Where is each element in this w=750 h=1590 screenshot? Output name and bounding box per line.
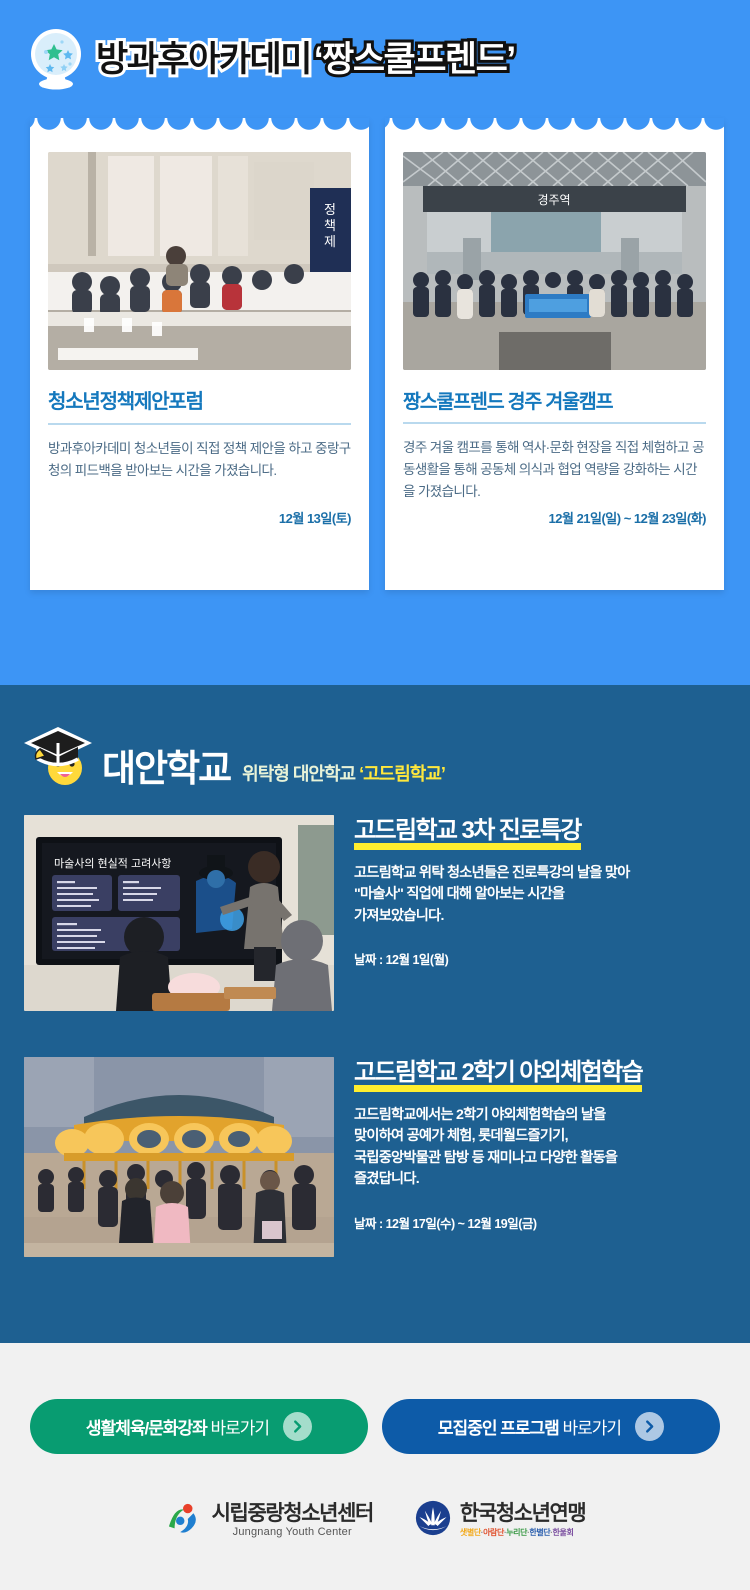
academy-card-title: 청소년정책제안포럼	[48, 391, 351, 414]
subunit-5: 한울회	[553, 1528, 574, 1537]
alt-school-item-photo: 마술사의 현실적 고려사항	[24, 815, 334, 1011]
alt-school-item-title-text: 고드림학교 2학기 야외체험학습	[354, 1059, 642, 1086]
alt-school-item-title: 고드림학교 3차 진로특강	[354, 817, 581, 847]
chevron-right-circle-icon	[635, 1412, 664, 1441]
academy-card[interactable]: 경주역	[385, 118, 724, 590]
recruiting-program-label: 모집중인 프로그램 바로가기	[438, 1414, 621, 1439]
korea-youth-association-name-ko: 한국청소년연맹	[460, 1503, 585, 1525]
alt-school-section: 대안학교 위탁형 대안학교 ‘고드림학교’ 마술사의 현실적 고려사항	[0, 685, 750, 1343]
alt-school-item-description: 고드림학교에서는 2학기 야외체험학습의 날을 맞이하여 공예가 체험, 롯데월…	[354, 1105, 726, 1191]
alt-school-item-title: 고드림학교 2학기 야외체험학습	[354, 1059, 642, 1089]
svg-text:책: 책	[324, 218, 336, 233]
alt-school-item[interactable]: 고드림학교 2학기 야외체험학습 고드림학교에서는 2학기 야외체험학습의 날을…	[0, 1057, 750, 1257]
alt-school-subtitle-highlight: ‘고드림학교’	[359, 764, 445, 784]
korea-youth-association-logo: 한국청소년연맹 샛별단·아람단·누리단·한별단·한울회	[415, 1500, 585, 1541]
alt-school-item-body: 고드림학교 3차 진로특강 고드림학교 위탁 청소년들은 진로특강의 날을 맞아…	[354, 815, 726, 1011]
chevron-right-circle-icon	[283, 1412, 312, 1441]
svg-text:제: 제	[324, 234, 336, 249]
sports-culture-course-label: 생활체육/문화강좌 바로가기	[86, 1414, 269, 1439]
academy-card-list: 정 책 제	[0, 118, 750, 590]
alt-school-item-description: 고드림학교 위탁 청소년들은 진로특강의 날을 맞아 "마술사" 직업에 대해 …	[354, 863, 726, 928]
academy-header-title: 방과후아카데미‘짱스쿨프렌드’	[96, 42, 515, 77]
alt-school-item-date: 날짜 : 12월 1일(월)	[354, 949, 726, 968]
alt-school-header: 대안학교 위탁형 대안학교 ‘고드림학교’	[0, 711, 750, 791]
jungnang-youth-center-logo: 시립중랑청소년센터 Jungnang Youth Center	[165, 1502, 373, 1539]
alt-school-item-body: 고드림학교 2학기 야외체험학습 고드림학교에서는 2학기 야외체험학습의 날을…	[354, 1057, 726, 1257]
recruiting-program-link-button[interactable]: 모집중인 프로그램 바로가기	[382, 1399, 720, 1454]
academy-section: 방과후아카데미‘짱스쿨프렌드’ 정 책	[0, 0, 750, 685]
footer-button-row: 생활체육/문화강좌 바로가기 모집중인 프로그램 바로가기	[0, 1343, 750, 1454]
footer-section: 생활체육/문화강좌 바로가기 모집중인 프로그램 바로가기	[0, 1343, 750, 1590]
academy-title-sub: ‘짱스쿨프렌드’	[314, 40, 515, 79]
alt-school-item-title-text: 고드림학교 3차 진로특강	[354, 817, 581, 844]
subunit-2: 아람단	[483, 1528, 504, 1537]
academy-card[interactable]: 정 책 제	[30, 118, 369, 590]
academy-card-date: 12월 13일(토)	[279, 508, 351, 527]
alt-school-subtitle: 위탁형 대안학교 ‘고드림학교’	[242, 765, 445, 783]
academy-card-date: 12월 21일(일) ~ 12월 23일(화)	[549, 508, 706, 527]
korea-youth-association-subunits: 샛별단·아람단·누리단·한별단·한울회	[460, 1527, 585, 1538]
academy-header: 방과후아카데미‘짱스쿨프렌드’	[0, 0, 750, 118]
jungnang-youth-center-name-ko: 시립중랑청소년센터	[212, 1503, 373, 1525]
card-divider	[403, 422, 706, 424]
academy-card-photo: 정 책 제	[48, 152, 351, 370]
korea-youth-association-logo-mark	[415, 1500, 451, 1541]
academy-title-main: 방과후아카데미	[96, 40, 311, 79]
alt-school-item-date: 날짜 : 12월 17일(수) ~ 12월 19일(금)	[354, 1213, 726, 1232]
subunit-4: 한별단	[529, 1528, 550, 1537]
jungnang-youth-center-name-en: Jungnang Youth Center	[212, 1526, 373, 1538]
svg-text:정: 정	[324, 202, 336, 217]
academy-card-description: 방과후아카데미 청소년들이 직접 정책 제안을 하고 중랑구청의 피드백을 받아…	[48, 438, 351, 482]
svg-text:마술사의 현실적 고려사항: 마술사의 현실적 고려사항	[54, 857, 171, 870]
academy-card-description: 경주 겨울 캠프를 통해 역사·문화 현장을 직접 체험하고 공동생활을 통해 …	[403, 437, 706, 503]
graduation-cap-smiley-icon	[22, 719, 94, 791]
alt-school-subtitle-plain: 위탁형 대안학교	[242, 764, 359, 784]
card-divider	[48, 423, 351, 425]
sports-culture-course-light: 바로가기	[207, 1419, 269, 1438]
sports-culture-course-link-button[interactable]: 생활체육/문화강좌 바로가기	[30, 1399, 368, 1454]
alt-school-item[interactable]: 마술사의 현실적 고려사항	[0, 815, 750, 1011]
snow-globe-icon	[26, 26, 86, 92]
svg-text:경주역: 경주역	[537, 193, 570, 207]
academy-card-photo: 경주역	[403, 152, 706, 370]
newsletter-page: 방과후아카데미‘짱스쿨프렌드’ 정 책	[0, 0, 750, 1590]
academy-card-title: 짱스쿨프렌드 경주 겨울캠프	[403, 391, 706, 413]
footer-logo-row: 시립중랑청소년센터 Jungnang Youth Center	[0, 1500, 750, 1541]
recruiting-program-strong: 모집중인 프로그램	[438, 1419, 559, 1438]
sports-culture-course-strong: 생활체육/문화강좌	[86, 1419, 207, 1438]
jungnang-youth-center-logo-mark	[165, 1502, 203, 1539]
recruiting-program-light: 바로가기	[559, 1419, 621, 1438]
subunit-1: 샛별단	[460, 1528, 481, 1537]
subunit-3: 누리단	[506, 1528, 527, 1537]
alt-school-title: 대안학교	[102, 750, 230, 787]
alt-school-item-photo	[24, 1057, 334, 1257]
